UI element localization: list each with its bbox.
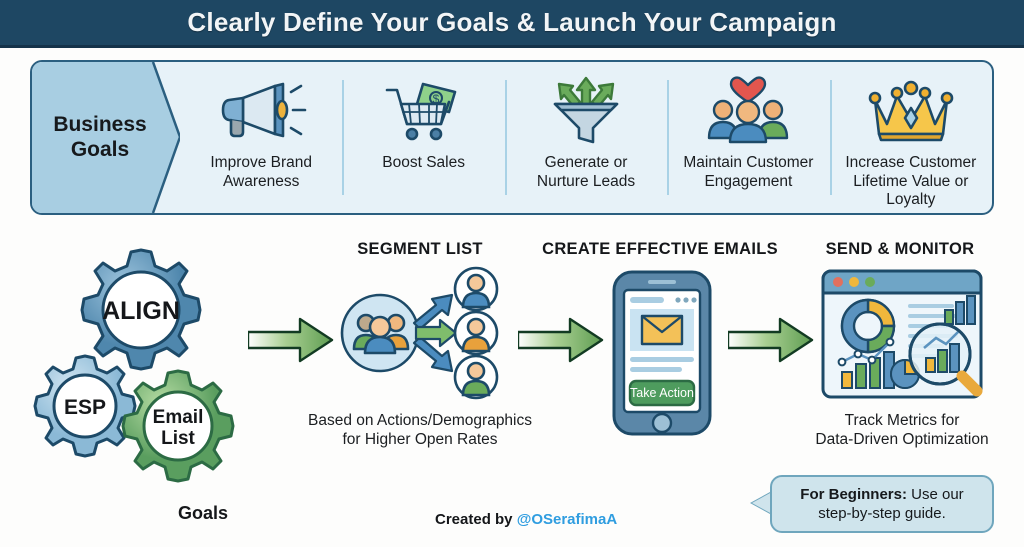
goal-label: Boost Sales — [376, 154, 471, 173]
green-right-arrow-icon-3 — [728, 315, 814, 370]
page-title: Clearly Define Your Goals & Launch Your … — [187, 7, 836, 38]
beginners-callout: For Beginners: Use our step-by-step guid… — [770, 475, 994, 533]
goal-label-line-2: Awareness — [210, 173, 312, 192]
stage-title-send-monitor: SEND & MONITOR — [826, 240, 975, 259]
goal-label: Maintain Customer Engagement — [677, 154, 819, 191]
goal-label: Generate or Nurture Leads — [531, 154, 641, 191]
goal-item-maintain-customer-engagement[interactable]: Maintain Customer Engagement — [667, 62, 829, 213]
gear-email-list: Email List — [123, 371, 233, 481]
goal-label-line-1: Increase Customer — [836, 154, 986, 173]
caption-line-2: Data-Driven Optimization — [815, 430, 988, 449]
goal-label: Improve Brand Awareness — [204, 154, 318, 191]
shopping-cart-money-icon: $ — [379, 76, 469, 146]
goal-label-line-2: Engagement — [683, 173, 813, 192]
smartphone-email-icon: Take Action — [610, 268, 714, 443]
audience-segmentation-icon — [340, 265, 505, 405]
gear-cluster: ALIGN ESP Email List — [28, 248, 258, 493]
funnel-arrows-icon — [543, 76, 629, 146]
business-goals-panel: Business Goals — [30, 60, 994, 215]
callout-line-1: For Beginners: Use our — [800, 485, 963, 505]
goal-label: Increase Customer Lifetime Value or Loya… — [830, 154, 992, 210]
gear-esp: ESP — [35, 356, 135, 456]
caption-line-2: for Higher Open Rates — [308, 430, 532, 449]
goal-item-improve-brand-awareness[interactable]: Improve Brand Awareness — [180, 62, 342, 213]
infographic-canvas: Clearly Define Your Goals & Launch Your … — [0, 0, 1024, 547]
tab-line-1: Business — [53, 113, 146, 137]
caption-line-1: Based on Actions/Demographics — [308, 411, 532, 430]
goal-label-line-2: Nurture Leads — [537, 173, 635, 192]
goal-item-increase-customer-lifetime-value[interactable]: Increase Customer Lifetime Value or Loya… — [830, 62, 992, 213]
credit-line: Created by @OSerafimaA — [435, 511, 617, 528]
callout-rest-text: Use our — [907, 486, 964, 503]
crown-icon — [861, 76, 961, 146]
goal-item-generate-nurture-leads[interactable]: Generate or Nurture Leads — [505, 62, 667, 213]
credit-handle[interactable]: @OSerafimaA — [517, 511, 618, 528]
credit-prefix: Created by — [435, 511, 517, 528]
goal-label-line-2: Lifetime Value or Loyalty — [836, 173, 986, 210]
stage-title-create-effective-emails: CREATE EFFECTIVE EMAILS — [542, 240, 778, 259]
gear-cluster-label: Goals — [178, 503, 228, 524]
green-right-arrow-icon-1 — [248, 315, 334, 370]
header-bar: Clearly Define Your Goals & Launch Your … — [0, 0, 1024, 48]
business-goals-tab-label: Business Goals — [53, 113, 158, 161]
goal-label-line-1: Improve Brand — [210, 154, 312, 173]
gear-esp-label: ESP — [64, 396, 106, 419]
callout-tail — [752, 492, 772, 514]
analytics-dashboard-icon — [820, 268, 984, 405]
gear-align: ALIGN — [82, 250, 200, 369]
callout-bold-text: For Beginners: — [800, 486, 907, 503]
gear-email-list-label-2: List — [161, 428, 195, 449]
goal-item-boost-sales[interactable]: $ Boost Sales — [342, 62, 504, 213]
people-heart-icon — [698, 76, 798, 146]
callout-line-2: step-by-step guide. — [800, 504, 963, 524]
goal-label-line-1: Generate or — [537, 154, 635, 173]
stage-caption-send-monitor: Track Metrics for Data-Driven Optimizati… — [815, 411, 988, 450]
caption-line-1: Track Metrics for — [815, 411, 988, 430]
goal-label-line-1: Boost Sales — [382, 154, 465, 173]
gear-align-label: ALIGN — [102, 297, 180, 325]
goal-label-line-1: Maintain Customer — [683, 154, 813, 173]
stage-caption-segment-list: Based on Actions/Demographics for Higher… — [308, 411, 532, 450]
business-goals-tab: Business Goals — [32, 62, 180, 213]
tab-line-2: Goals — [53, 138, 146, 162]
business-goals-items: Improve Brand Awareness $ — [180, 62, 992, 213]
gear-email-list-label-1: Email — [153, 407, 204, 428]
megaphone-icon — [213, 76, 309, 146]
stage-title-segment-list: SEGMENT LIST — [357, 240, 483, 259]
callout-text: For Beginners: Use our step-by-step guid… — [800, 485, 963, 524]
green-right-arrow-icon-2 — [518, 315, 604, 370]
email-cta-label: Take Action — [630, 386, 694, 400]
